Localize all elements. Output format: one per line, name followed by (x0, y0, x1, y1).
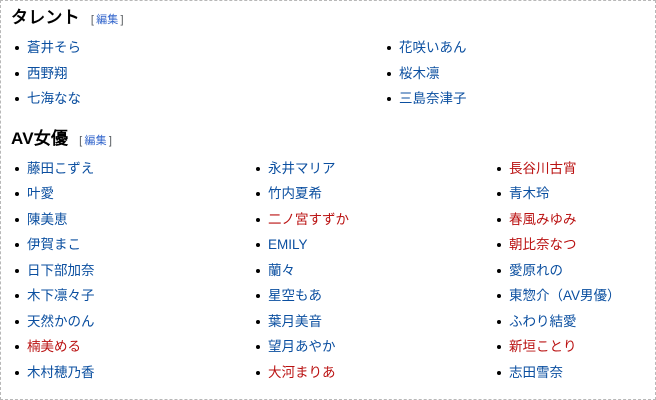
list-item: 愛原れの (493, 258, 645, 284)
av-joyu-list-column-1: 藤田こずえ 叶愛 陳美恵 伊賀まこ 日下部加奈 木下凛々子 (11, 156, 252, 386)
name-link[interactable]: 志田雪奈 (509, 365, 563, 380)
name-link[interactable]: 永井マリア (268, 161, 336, 176)
name-link[interactable]: 西野翔 (27, 66, 68, 81)
av-joyu-list-column-3: 長谷川古宵 青木玲 春風みゆみ 朝比奈なつ 愛原れの 東惣介 (493, 156, 645, 386)
wiki-content-area: タレント [編集] 蒼井そら 西野翔 七海なな (0, 0, 656, 400)
name-link[interactable]: 陳美恵 (27, 212, 68, 227)
list-item: 竹内夏希 (252, 181, 493, 207)
talent-column-1: 蒼井そら 西野翔 七海なな (11, 35, 383, 112)
section-title-av-joyu: AV女優 (11, 128, 68, 150)
talent-column-2: 花咲いあん 桜木凛 三島奈津子 (383, 35, 645, 112)
name-link[interactable]: 東惣介（AV男優） (509, 288, 621, 303)
list-item: 楠美める (11, 334, 252, 360)
name-link[interactable]: 望月あやか (268, 339, 336, 354)
name-link[interactable]: 七海なな (27, 91, 81, 106)
name-link[interactable]: 三島奈津子 (399, 91, 467, 106)
edit-close-bracket: ] (120, 14, 123, 26)
section-heading-av-joyu: AV女優 [編集] (11, 128, 645, 150)
name-link[interactable]: 木下凛々子 (27, 288, 95, 303)
list-item: 東惣介（AV男優） (493, 283, 645, 309)
name-link[interactable]: 楠美める (27, 339, 81, 354)
list-item: 三島奈津子 (383, 86, 645, 112)
talent-list-column-2: 花咲いあん 桜木凛 三島奈津子 (383, 35, 645, 112)
list-item: 春風みゆみ (493, 207, 645, 233)
list-item: ふわり結愛 (493, 309, 645, 335)
list-item: 七海なな (11, 86, 383, 112)
list-item: 長谷川古宵 (493, 156, 645, 182)
name-link[interactable]: 日下部加奈 (27, 263, 95, 278)
name-link[interactable]: 大河まりあ (268, 365, 336, 380)
name-link[interactable]: 桜木凛 (399, 66, 440, 81)
name-link[interactable]: 藤田こずえ (27, 161, 94, 176)
list-item: 日下部加奈 (11, 258, 252, 284)
edit-link-av-joyu[interactable]: 編集 (84, 135, 106, 147)
name-link[interactable]: 竹内夏希 (268, 186, 322, 201)
edit-section-talent: [編集] (91, 15, 124, 26)
name-link[interactable]: 伊賀まこ (27, 237, 81, 252)
list-item: 朝比奈なつ (493, 232, 645, 258)
list-item: 青木玲 (493, 181, 645, 207)
name-link[interactable]: 天然かのん (27, 314, 95, 329)
name-link[interactable]: 花咲いあん (399, 40, 467, 55)
name-link[interactable]: 叶愛 (27, 186, 54, 201)
talent-columns: 蒼井そら 西野翔 七海なな 花咲いあん 桜木凛 (11, 35, 645, 112)
name-link[interactable]: 星空もあ (268, 288, 322, 303)
list-item: 葉月美音 (252, 309, 493, 335)
name-link[interactable]: 二ノ宮すずか (268, 212, 349, 227)
name-link[interactable]: EMILY (268, 237, 308, 252)
name-link[interactable]: 新垣ことり (509, 339, 577, 354)
list-item: 木村穂乃香 (11, 360, 252, 386)
list-item: 桜木凛 (383, 61, 645, 87)
av-joyu-column-3: 長谷川古宵 青木玲 春風みゆみ 朝比奈なつ 愛原れの 東惣介 (493, 156, 645, 386)
list-item: 陳美恵 (11, 207, 252, 233)
edit-open-bracket: [ (79, 135, 82, 147)
av-joyu-list-column-2: 永井マリア 竹内夏希 二ノ宮すずか EMILY 蘭々 星空も (252, 156, 493, 386)
list-item: 新垣ことり (493, 334, 645, 360)
list-item: 大河まりあ (252, 360, 493, 386)
name-link[interactable]: 蒼井そら (27, 40, 81, 55)
list-item: 蘭々 (252, 258, 493, 284)
list-item: 星空もあ (252, 283, 493, 309)
list-item: 志田雪奈 (493, 360, 645, 386)
list-item: 花咲いあん (383, 35, 645, 61)
name-link[interactable]: 長谷川古宵 (509, 161, 577, 176)
section-heading-talent: タレント [編集] (11, 7, 645, 29)
av-joyu-column-1: 藤田こずえ 叶愛 陳美恵 伊賀まこ 日下部加奈 木下凛々子 (11, 156, 252, 386)
name-link[interactable]: 春風みゆみ (509, 212, 577, 227)
list-item: 叶愛 (11, 181, 252, 207)
list-item: 木下凛々子 (11, 283, 252, 309)
name-link[interactable]: 朝比奈なつ (509, 237, 577, 252)
section-talent: タレント [編集] 蒼井そら 西野翔 七海なな (11, 7, 645, 112)
name-link[interactable]: 木村穂乃香 (27, 365, 95, 380)
edit-section-av-joyu: [編集] (79, 136, 112, 147)
talent-list-column-1: 蒼井そら 西野翔 七海なな (11, 35, 383, 112)
list-item: 伊賀まこ (11, 232, 252, 258)
list-item: 藤田こずえ (11, 156, 252, 182)
list-item: 天然かのん (11, 309, 252, 335)
section-av-joyu: AV女優 [編集] 藤田こずえ 叶愛 陳美恵 (11, 128, 645, 386)
name-link[interactable]: 愛原れの (509, 263, 563, 278)
list-item: 蒼井そら (11, 35, 383, 61)
list-item: 望月あやか (252, 334, 493, 360)
av-joyu-column-2: 永井マリア 竹内夏希 二ノ宮すずか EMILY 蘭々 星空も (252, 156, 493, 386)
edit-link-talent[interactable]: 編集 (96, 14, 118, 26)
list-item: EMILY (252, 232, 493, 258)
name-link[interactable]: 蘭々 (268, 263, 295, 278)
edit-open-bracket: [ (91, 14, 94, 26)
name-link[interactable]: ふわり結愛 (509, 314, 577, 329)
list-item: 西野翔 (11, 61, 383, 87)
list-item: 永井マリア (252, 156, 493, 182)
name-link[interactable]: 青木玲 (509, 186, 550, 201)
av-joyu-columns: 藤田こずえ 叶愛 陳美恵 伊賀まこ 日下部加奈 木下凛々子 (11, 156, 645, 386)
section-title-talent: タレント (11, 7, 80, 29)
list-item: 二ノ宮すずか (252, 207, 493, 233)
name-link[interactable]: 葉月美音 (268, 314, 322, 329)
edit-close-bracket: ] (109, 135, 112, 147)
